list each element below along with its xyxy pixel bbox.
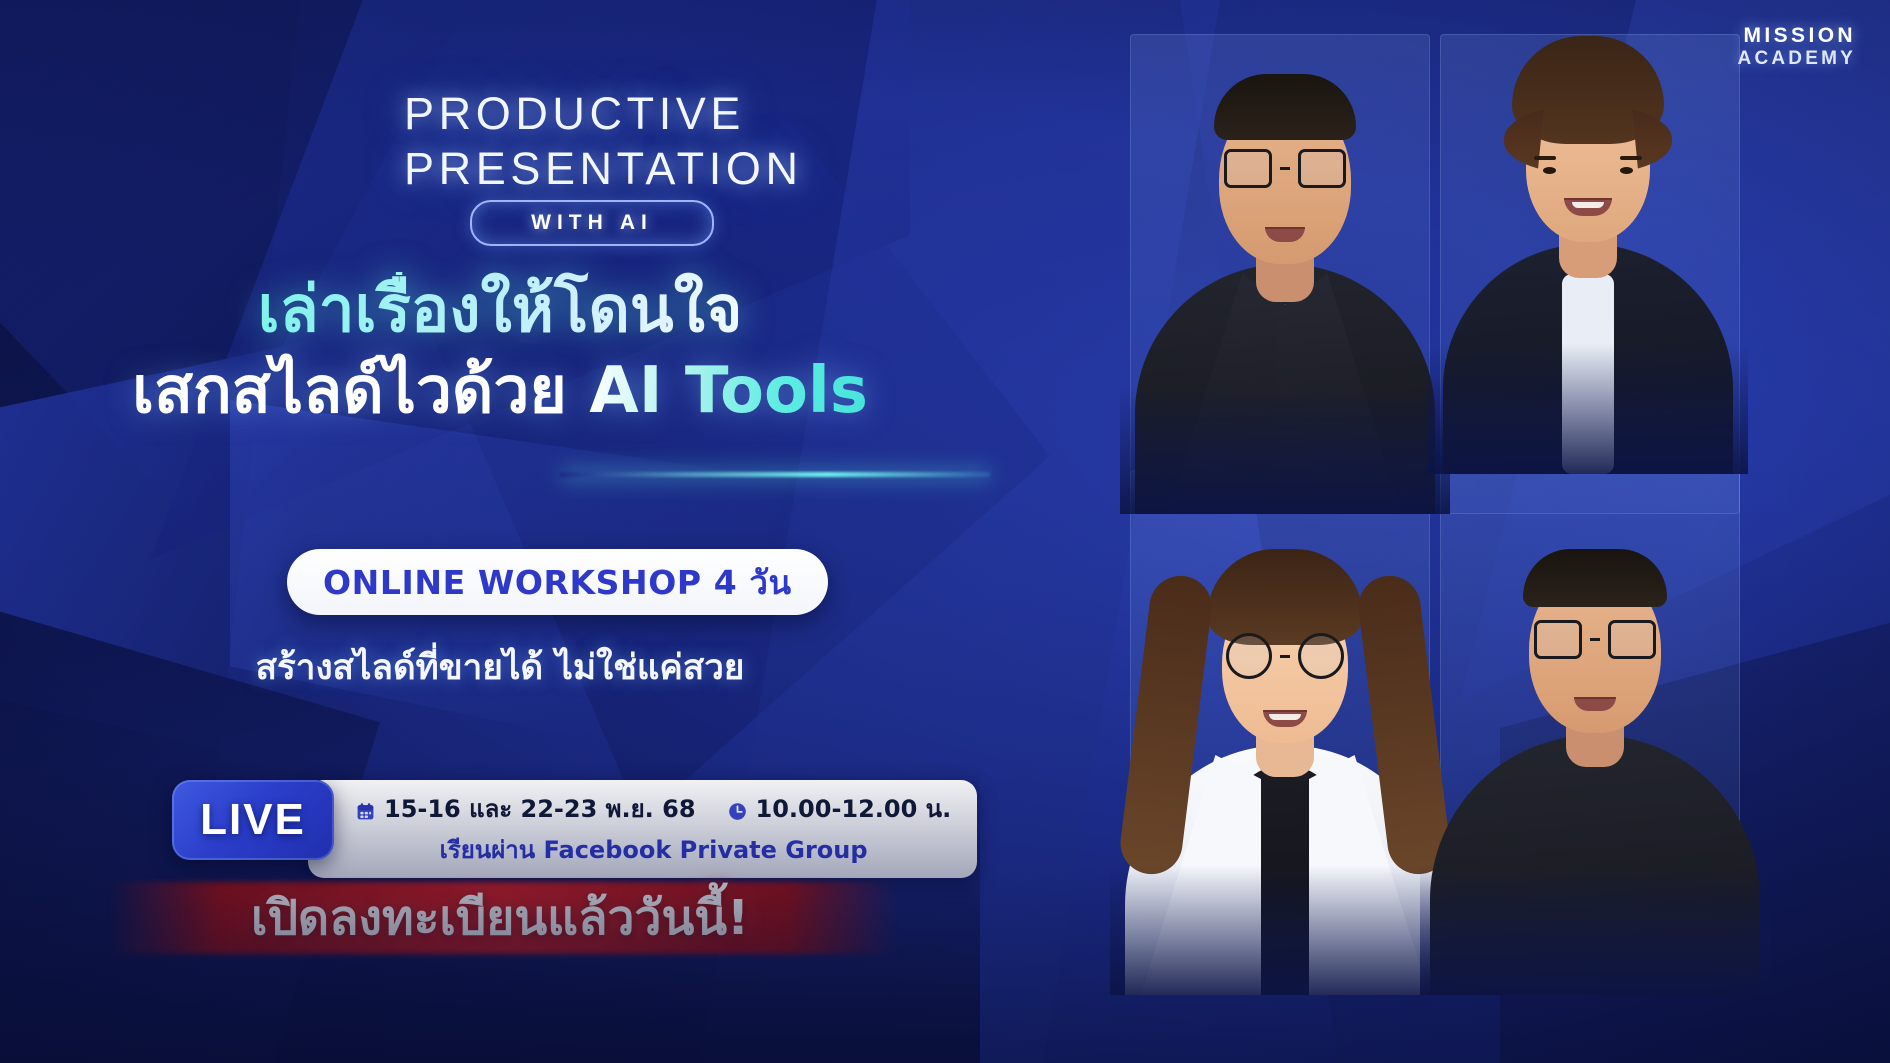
speaker-photo-bottom-right — [1420, 452, 1770, 995]
schedule-time: 10.00-12.00 น. — [756, 789, 952, 828]
clock-icon — [728, 799, 747, 818]
brand-title-line2: PRESENTATION — [404, 145, 924, 194]
content-column: PRODUCTIVE PRESENTATION WITH AI เล่าเรื่… — [0, 0, 1000, 1063]
schedule-primary-row: 15-16 และ 22-23 พ.ย. 68 10.00-12.00 น. — [356, 789, 951, 828]
headline-line-2-thai: เสกสไลด์ไวด้วย — [132, 354, 589, 428]
speaker-collage — [1110, 0, 1890, 1063]
with-ai-badge: WITH AI — [470, 200, 714, 246]
subtitle-text: สร้างสไลด์ที่ขายได้ ไม่ใช่แค่สวย — [0, 640, 1000, 695]
live-badge-label: LIVE — [200, 795, 306, 845]
with-ai-label: WITH AI — [531, 211, 653, 235]
schedule-platform: เรียนผ่าน Facebook Private Group — [356, 830, 951, 869]
speaker-photo-top-right — [1428, 34, 1748, 474]
schedule-dates: 15-16 และ 22-23 พ.ย. 68 — [384, 789, 696, 828]
brand-title-line1: PRODUCTIVE — [404, 90, 924, 139]
cta-text: เปิดลงทะเบียนแล้ววันนี้! — [0, 872, 1000, 964]
speaker-photo-top-left — [1120, 44, 1450, 514]
headline-block: เล่าเรื่องให้โดนใจ เสกสไลด์ไวด้วย AI Too… — [0, 272, 1000, 430]
live-info-row: LIVE — [172, 780, 977, 878]
headline-line-2: เสกสไลด์ไวด้วย AI Tools — [0, 353, 1000, 430]
headline-line-1: เล่าเรื่องให้โดนใจ — [0, 272, 1000, 349]
cta-block: เปิดลงทะเบียนแล้ววันนี้! — [0, 872, 1000, 964]
workshop-badge-label: ONLINE WORKSHOP 4 วัน — [323, 556, 792, 609]
cyan-glow-divider — [560, 472, 990, 477]
promo-banner: MISSION ACADEMY PRODUCTIVE PRESENTATION … — [0, 0, 1890, 1063]
headline-line-2-accent: AI Tools — [589, 354, 868, 428]
speaker-photo-bottom-left — [1110, 450, 1460, 995]
calendar-icon — [356, 799, 375, 818]
workshop-badge: ONLINE WORKSHOP 4 วัน — [287, 549, 828, 615]
brand-title: PRODUCTIVE PRESENTATION — [404, 90, 924, 193]
live-badge: LIVE — [172, 780, 334, 860]
schedule-info-box: 15-16 และ 22-23 พ.ย. 68 10.00-12.00 น. เ… — [308, 780, 977, 878]
